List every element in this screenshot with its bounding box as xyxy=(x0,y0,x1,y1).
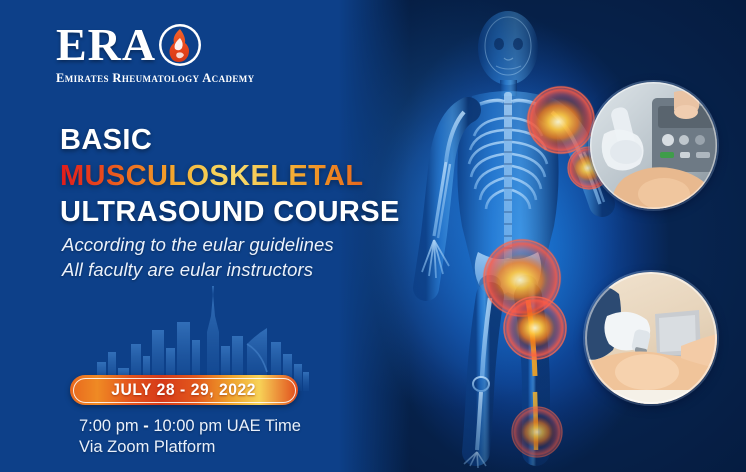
date-badge-text: JULY 28 - 29, 2022 xyxy=(112,380,257,400)
schedule-end-time: 10:00 pm UAE Time xyxy=(153,417,301,435)
logo-subtitle: Emirates Rheumatology Academy xyxy=(56,71,296,86)
logo-wordmark: ERA xyxy=(56,22,156,68)
schedule-dash: - xyxy=(143,417,149,435)
date-badge: JULY 28 - 29, 2022 xyxy=(70,375,298,405)
promo-banner: ERA xyxy=(0,0,746,472)
era-logo: ERA xyxy=(56,22,296,86)
subtitle-line-1: According to the eular guidelines xyxy=(62,232,334,257)
schedule-start-time: 7:00 pm xyxy=(79,417,139,435)
headline-line-1: BASIC xyxy=(60,122,400,158)
headline-line-3: ULTRASOUND COURSE xyxy=(60,194,400,230)
subtitle-line-2: All faculty are eular instructors xyxy=(62,257,334,282)
page-title: BASIC MUSCULOSKELETAL ULTRASOUND COURSE xyxy=(60,122,400,230)
schedule-platform: Via Zoom Platform xyxy=(79,437,301,458)
schedule-time-line: 7:00 pm - 10:00 pm UAE Time xyxy=(79,416,301,437)
course-subtitle: According to the eular guidelines All fa… xyxy=(62,232,334,282)
flame-joint-emblem-icon xyxy=(158,23,202,67)
headline-line-2: MUSCULOSKELETAL xyxy=(60,158,400,194)
schedule-info: 7:00 pm - 10:00 pm UAE Time Via Zoom Pla… xyxy=(79,416,301,458)
